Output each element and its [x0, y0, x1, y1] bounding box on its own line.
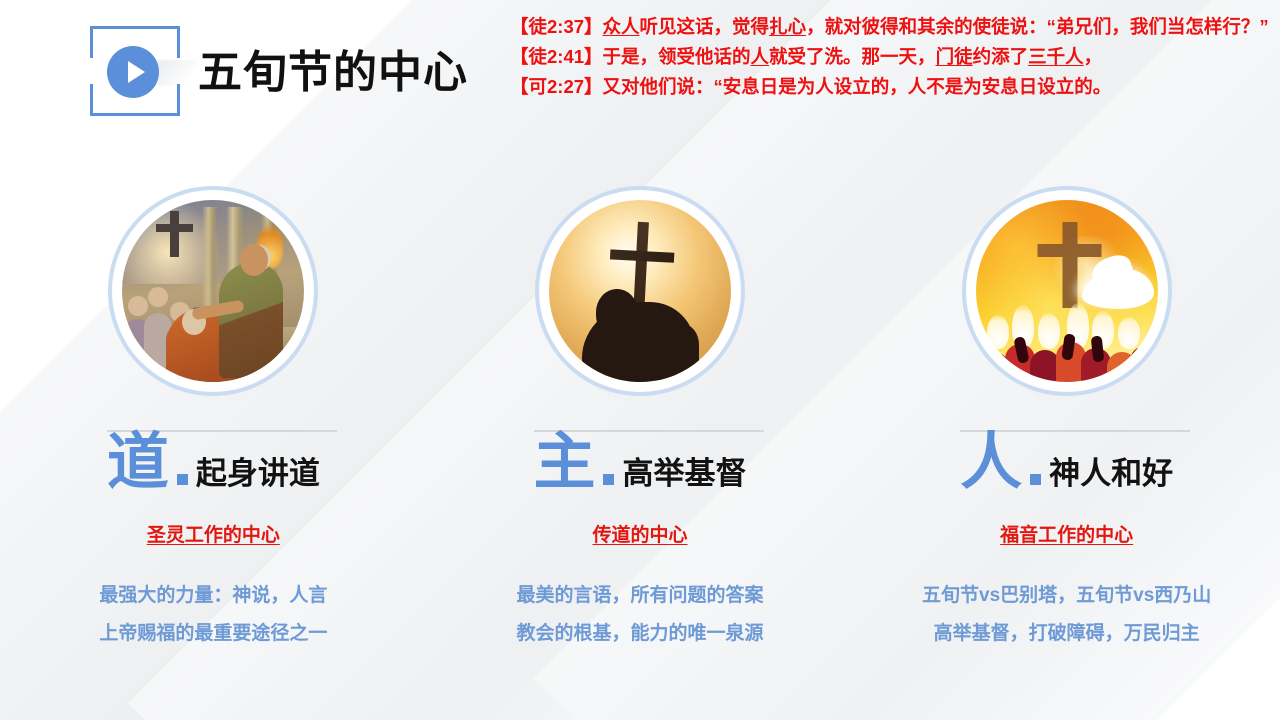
center-label-3: 福音工作的中心	[1000, 520, 1133, 547]
image-ring-2	[535, 186, 745, 396]
scripture-text: 听见这话，觉得	[640, 16, 770, 37]
scripture-line-1: 【徒2:37】众人听见这话，觉得扎心，就对彼得和其余的使徒说：“弟兄们，我们当怎…	[510, 12, 1272, 42]
scripture-emphasis: 三千人	[1028, 46, 1084, 67]
page-title: 五旬节的中心	[198, 51, 468, 95]
scripture-text: 就受了洗。那一天，	[769, 46, 936, 67]
image-ring-3	[962, 186, 1172, 396]
headline-row-1: 道 起身讲道	[0, 420, 427, 506]
big-char-3: 人	[960, 434, 1022, 493]
headline-row-2: 主 高举基督	[427, 420, 854, 506]
body-lines-2: 最美的言语，所有问题的答案 教会的根基，能力的唯一泉源	[516, 577, 763, 653]
kneeling-with-cross-illustration	[549, 200, 731, 382]
square-dot-icon-2	[603, 474, 614, 485]
body-line: 最美的言语，所有问题的答案	[516, 577, 763, 615]
body-line: 教会的根基，能力的唯一泉源	[516, 615, 763, 653]
scripture-line-2: 【徒2:41】于是，领受他话的人就受了洗。那一天，门徒约添了三千人，	[510, 42, 1272, 72]
scripture-emphasis: 门徒	[936, 46, 973, 67]
column-ren: 人 神人和好 福音工作的中心 五旬节vs巴别塔，五旬节vs西乃山 高举基督，打破…	[853, 186, 1280, 653]
peter-preaching-illustration	[122, 200, 304, 382]
image-ring-1	[108, 186, 318, 396]
three-column-layout: 道 起身讲道 圣灵工作的中心 最强大的力量：神说，人言 上帝赐福的最重要途径之一	[0, 186, 1280, 653]
scripture-block: 【徒2:37】众人听见这话，觉得扎心，就对彼得和其余的使徒说：“弟兄们，我们当怎…	[510, 12, 1272, 102]
column-zhu: 主 高举基督 传道的中心 最美的言语，所有问题的答案 教会的根基，能力的唯一泉源	[427, 186, 854, 653]
sub-heading-1: 起身讲道	[196, 458, 320, 489]
scripture-emphasis: 扎心	[769, 16, 806, 37]
scripture-text: 【可2:27】又对他们说：“安息日是为人设立的，人不是为安息日设立的。	[510, 76, 1111, 97]
scripture-emphasis: 人	[751, 46, 770, 67]
scripture-text: 【徒2:41】于是，领受他话的	[510, 46, 751, 67]
body-line: 五旬节vs巴别塔，五旬节vs西乃山	[922, 577, 1211, 615]
scripture-emphasis: 众人	[603, 16, 640, 37]
square-dot-icon-3	[1030, 474, 1041, 485]
scripture-text: 【徒2:37】	[510, 16, 603, 37]
headline-row-3: 人 神人和好	[853, 420, 1280, 506]
scripture-text: ，就对彼得和其余的使徒说：“弟兄们，我们当怎样行？”	[806, 16, 1269, 37]
slide-header: 五旬节的中心	[86, 22, 468, 120]
slide-canvas: 五旬节的中心 【徒2:37】众人听见这话，觉得扎心，就对彼得和其余的使徒说：“弟…	[0, 0, 1280, 720]
center-label-2: 传道的中心	[592, 520, 687, 547]
column-dao: 道 起身讲道 圣灵工作的中心 最强大的力量：神说，人言 上帝赐福的最重要途径之一	[0, 186, 427, 653]
scripture-text: 约添了	[973, 46, 1029, 67]
center-label-1: 圣灵工作的中心	[147, 520, 280, 547]
big-char-1: 道	[107, 434, 169, 493]
body-line: 最强大的力量：神说，人言	[99, 577, 327, 615]
logo-circle	[107, 46, 159, 98]
scripture-text: ，	[1084, 46, 1103, 67]
pentecost-dove-flames-illustration	[976, 200, 1158, 382]
body-line: 上帝赐福的最重要途径之一	[99, 615, 327, 653]
big-char-2: 主	[533, 434, 595, 493]
body-lines-3: 五旬节vs巴别塔，五旬节vs西乃山 高举基督，打破障碍，万民归主	[922, 577, 1211, 653]
sub-heading-3: 神人和好	[1049, 458, 1173, 489]
scripture-line-3: 【可2:27】又对他们说：“安息日是为人设立的，人不是为安息日设立的。	[510, 72, 1272, 102]
play-triangle-icon	[128, 61, 145, 83]
play-button-icon	[86, 22, 184, 120]
square-dot-icon-1	[177, 474, 188, 485]
body-lines-1: 最强大的力量：神说，人言 上帝赐福的最重要途径之一	[99, 577, 327, 653]
sub-heading-2: 高举基督	[622, 458, 746, 489]
body-line: 高举基督，打破障碍，万民归主	[922, 615, 1211, 653]
